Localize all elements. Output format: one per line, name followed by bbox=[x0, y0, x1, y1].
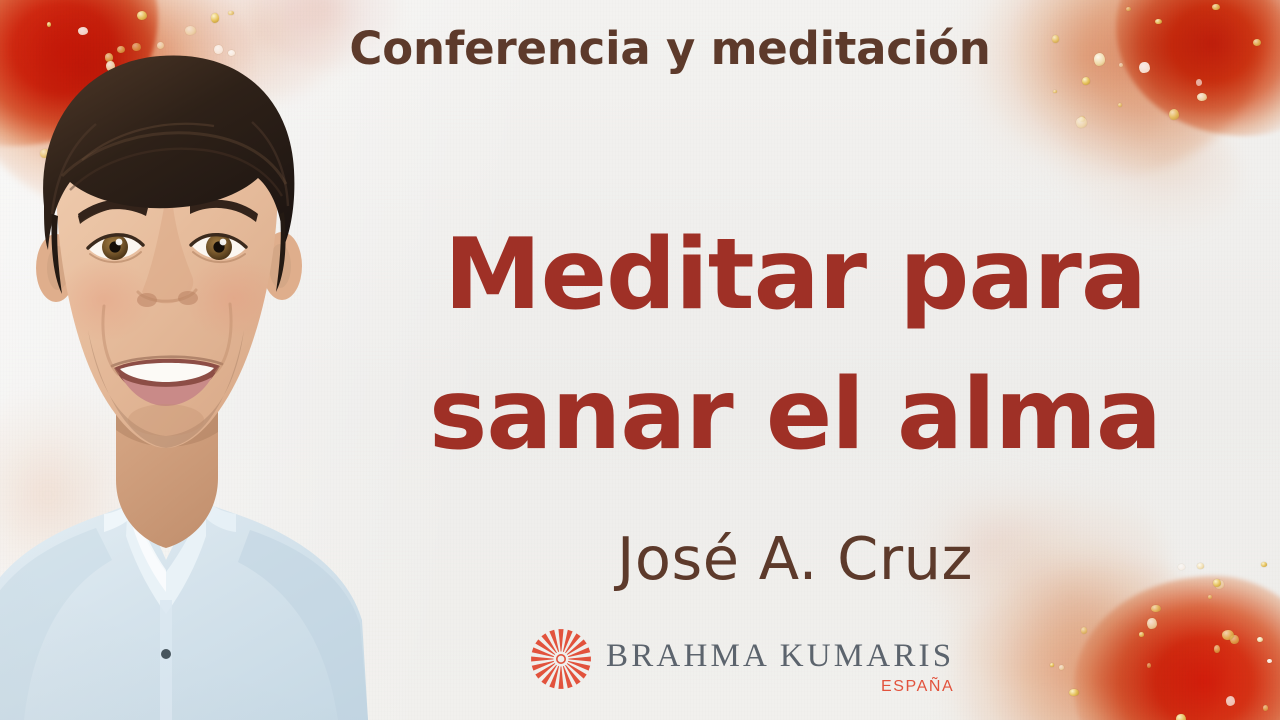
speaker-name: José A. Cruz bbox=[410, 524, 1180, 593]
brahma-kumaris-logo: BRAHMA KUMARIS ESPAÑA bbox=[530, 628, 954, 695]
poster-title-line-1: Meditar para bbox=[410, 226, 1180, 324]
poster-title-line-2: sanar el alma bbox=[410, 366, 1180, 464]
brahma-kumaris-region-label: ESPAÑA bbox=[606, 679, 954, 695]
poster-canvas: Conferencia y meditación Meditar para sa… bbox=[0, 0, 1280, 720]
event-kicker: Conferencia y meditación bbox=[300, 22, 1040, 75]
brahma-kumaris-wordmark-block: BRAHMA KUMARIS ESPAÑA bbox=[606, 628, 954, 695]
brahma-kumaris-sunburst-icon bbox=[530, 628, 592, 690]
brahma-kumaris-wordmark: BRAHMA KUMARIS bbox=[606, 640, 954, 673]
